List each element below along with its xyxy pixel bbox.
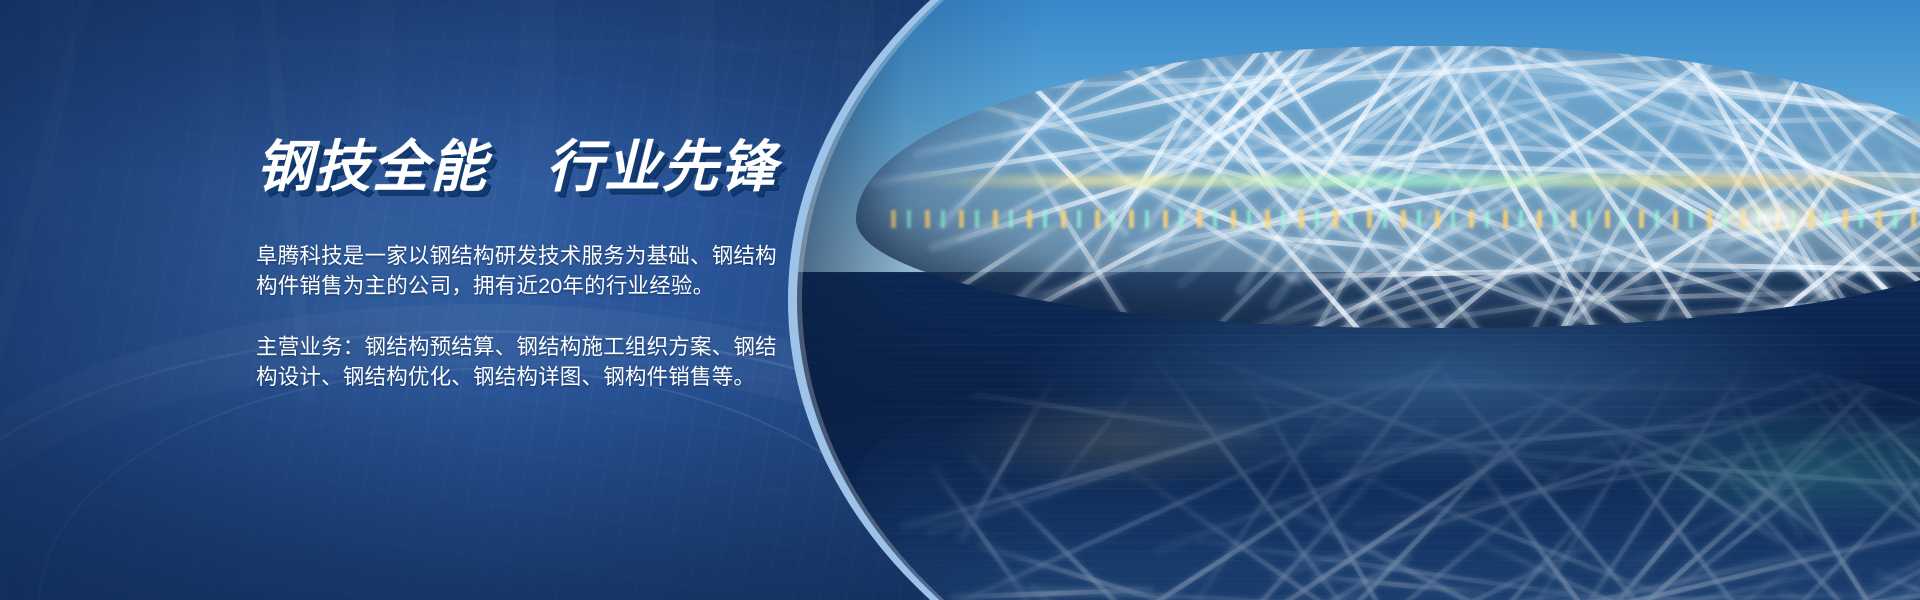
banner-paragraph-intro: 阜腾科技是一家以钢结构研发技术服务为基础、钢结构构件销售为主的公司，拥有近20年… [256, 241, 796, 302]
stadium-photo-inner [793, 0, 1920, 600]
photo-edge-shading [793, 0, 1920, 600]
banner-paragraph-services: 主营业务：钢结构预结算、钢结构施工组织方案、钢结构设计、钢结构优化、钢结构详图、… [256, 332, 796, 393]
hero-banner: 钢技全能 行业先锋 阜腾科技是一家以钢结构研发技术服务为基础、钢结构构件销售为主… [0, 0, 1920, 600]
stadium-photo [793, 0, 1920, 600]
banner-content: 钢技全能 行业先锋 阜腾科技是一家以钢结构研发技术服务为基础、钢结构构件销售为主… [256, 138, 796, 393]
banner-headline: 钢技全能 行业先锋 [256, 138, 796, 197]
